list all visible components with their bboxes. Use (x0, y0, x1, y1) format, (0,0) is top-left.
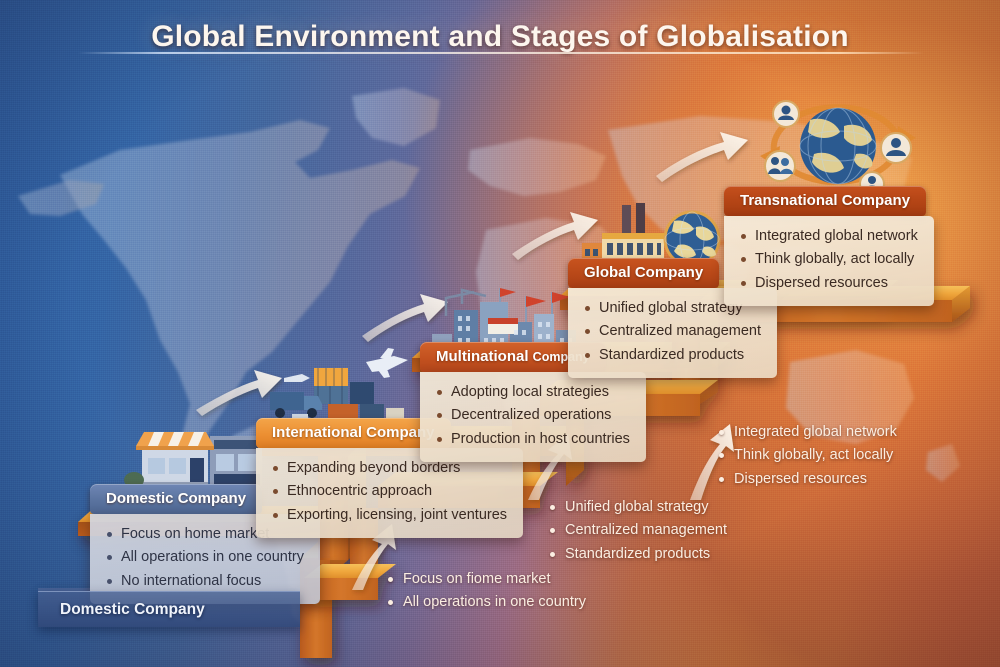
list-item: Unified global strategy (549, 496, 727, 519)
stage-title-multinational-label: Multinational (436, 348, 529, 365)
list-item: Think globally, act locally (718, 444, 897, 467)
floating-list-global-echo: Unified global strategy Centralized mana… (549, 496, 727, 566)
stage-title-global-label: Global Company (584, 264, 703, 281)
infographic-canvas: Global Environment and Stages of Globali… (0, 0, 1000, 667)
list-item: Decentralized operations (436, 404, 630, 427)
globe-network-people-icon (752, 96, 920, 192)
floating-list-domestic-echo: Focus on fiome market All operations in … (387, 568, 586, 615)
storefront-shop-icon (128, 418, 270, 492)
list-item: Production in host countries (436, 428, 630, 451)
bottom-bar-label: Domestic Company (60, 601, 205, 619)
stage-title-domestic: Domestic Company (90, 484, 262, 514)
stage-bullets-multinational: Adopting local strategies Decentralized … (420, 372, 646, 462)
stage-title-transnational-label: Transnational Company (740, 192, 910, 209)
list-item: Centralized management (584, 320, 761, 343)
stage-title-international-label: International Company (272, 424, 435, 441)
shipping-containers-truck-plane-icon (268, 352, 418, 424)
stage-title-global: Global Company (568, 258, 719, 288)
stage-title-transnational: Transnational Company (724, 186, 926, 216)
list-item: Centralized management (549, 519, 727, 542)
list-item: All operations in one country (106, 546, 304, 569)
stage-card-transnational[interactable]: Transnational Company Integrated global … (724, 186, 934, 306)
list-item: Dispersed resources (740, 272, 918, 295)
stage-bullets-transnational: Integrated global network Think globally… (724, 216, 934, 306)
list-item: Adopting local strategies (436, 381, 630, 404)
list-item: Exporting, licensing, joint ventures (272, 504, 507, 527)
list-item: Dispersed resources (718, 468, 897, 491)
list-item: Ethnocentric approach (272, 480, 507, 503)
list-item: Standardized products (549, 543, 727, 566)
list-item: Integrated global network (718, 421, 897, 444)
stage-title-domestic-label: Domestic Company (106, 490, 246, 507)
floating-list-transnational-echo: Integrated global network Think globally… (718, 421, 897, 491)
list-item: Focus on fiome market (387, 568, 586, 591)
bottom-bar-domestic: Domestic Company (38, 591, 300, 627)
list-item: Think globally, act locally (740, 248, 918, 271)
list-item: Standardized products (584, 344, 761, 367)
list-item: All operations in one country (387, 591, 586, 614)
list-item: No international focus (106, 570, 304, 593)
list-item: Integrated global network (740, 225, 918, 248)
